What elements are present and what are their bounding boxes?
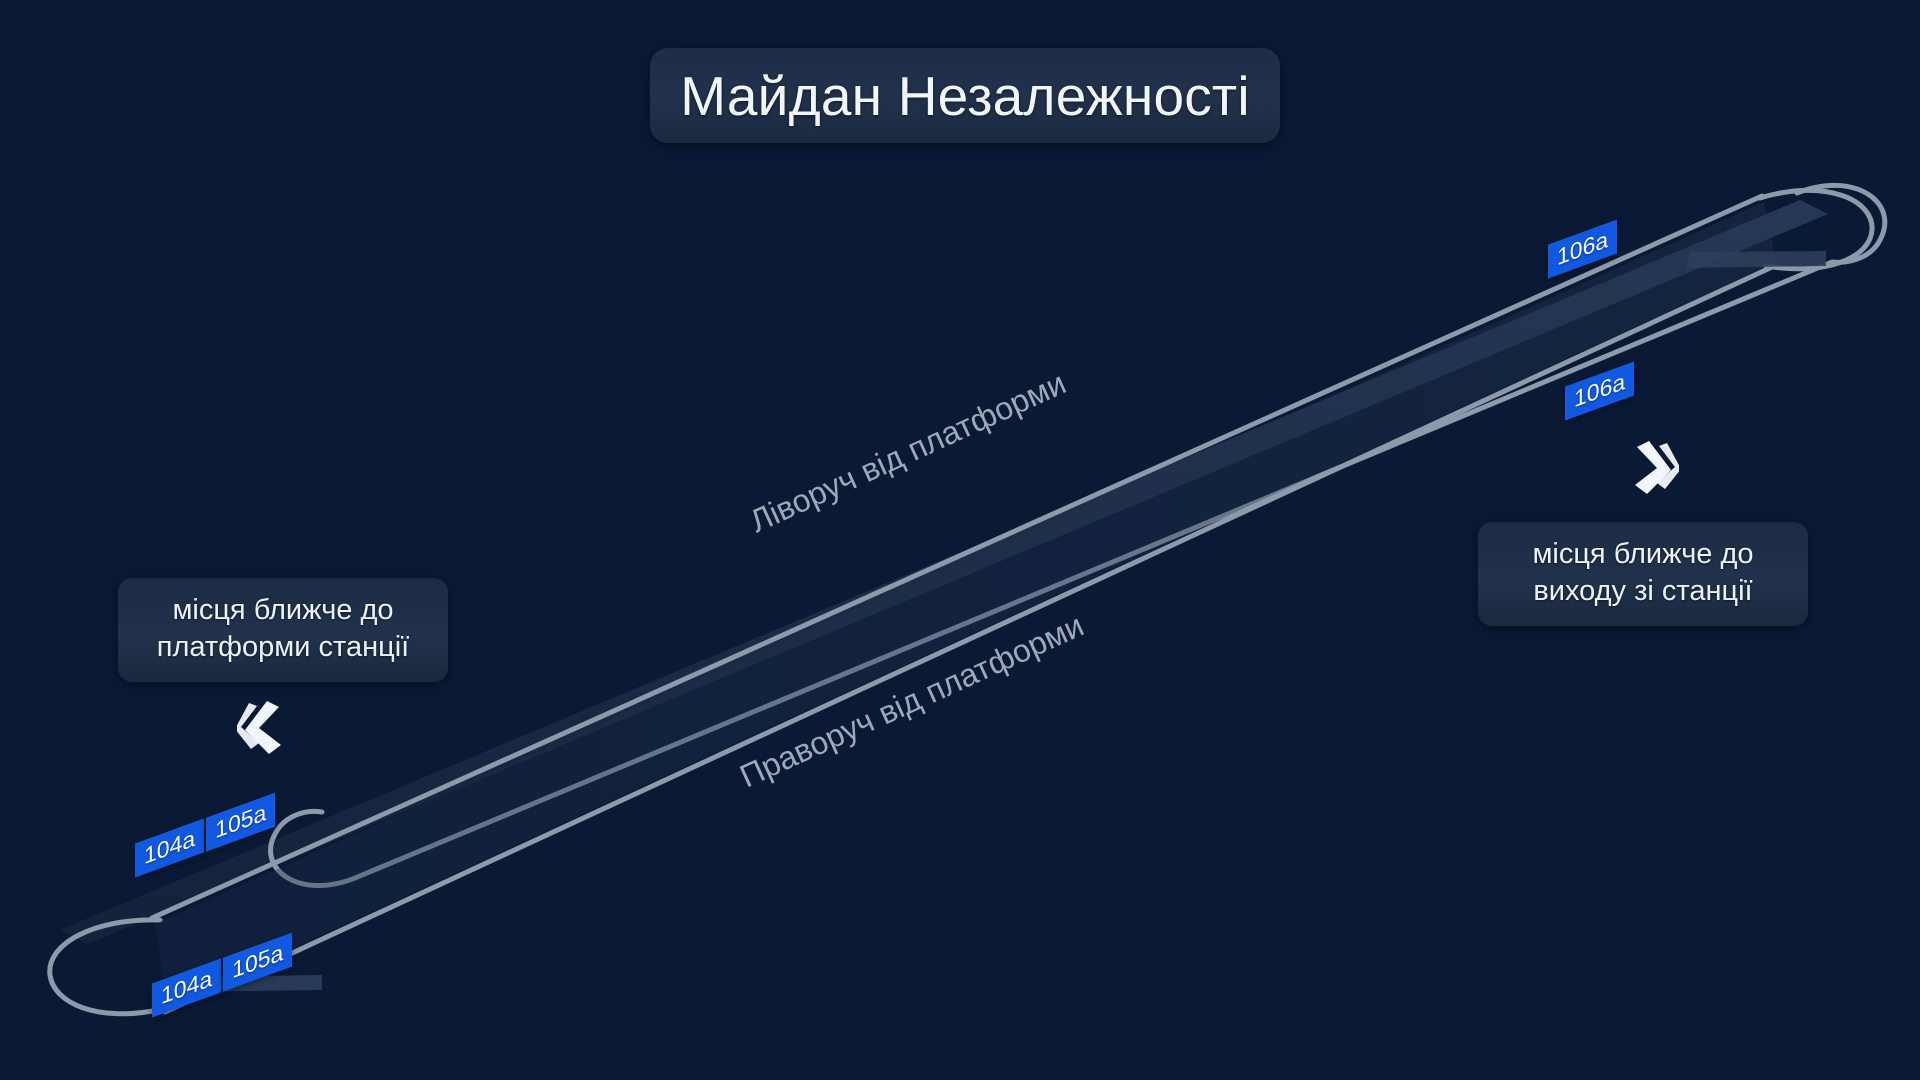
station-platform-diagram: Майдан Незалежності Ліворуч від платформ… [0, 0, 1920, 1080]
right-kerb-shadow [1686, 251, 1826, 268]
station-title-box: Майдан Незалежності [650, 48, 1280, 143]
callout-exit-side: місця ближче до виходу зі станції [1478, 522, 1808, 626]
page-title: Майдан Незалежності [680, 64, 1250, 128]
double-chevron-left-icon [237, 697, 303, 759]
callout-platform-side: місця ближче до платформи станції [118, 578, 448, 682]
double-chevron-right-icon [1613, 437, 1679, 499]
